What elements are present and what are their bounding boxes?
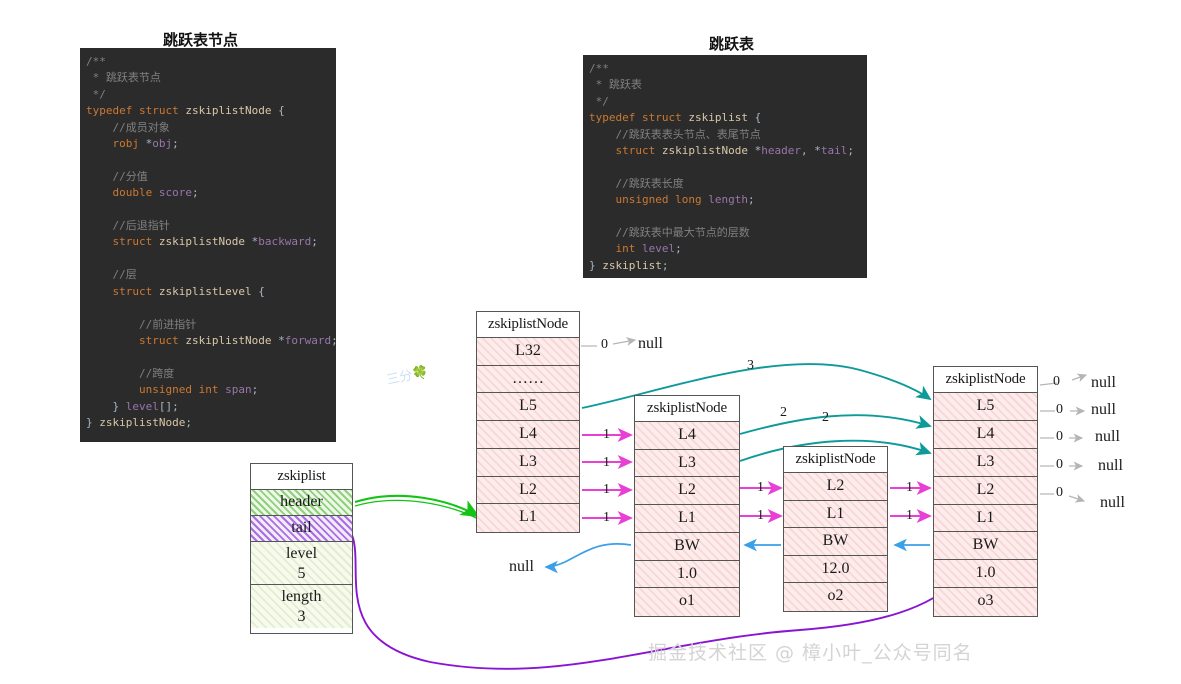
node-o2-title: zskiplistNode bbox=[784, 447, 887, 473]
zskiplist-field-label: length bbox=[282, 588, 322, 605]
node-o1-title: zskiplistNode bbox=[635, 396, 739, 422]
node-o3-cell-L3[interactable]: L3 bbox=[934, 449, 1037, 477]
zero-right-3: 0 bbox=[1056, 429, 1063, 445]
span-label-o2-l2: 1 bbox=[906, 480, 913, 496]
zskiplist-field-label: level bbox=[286, 545, 317, 562]
null-right-4: null bbox=[1098, 457, 1123, 475]
zero-right-2: 0 bbox=[1056, 402, 1063, 418]
node-o3-cell-BW[interactable]: BW bbox=[934, 532, 1037, 560]
node-o2-cell-12.0[interactable]: 12.0 bbox=[784, 556, 887, 584]
header-node-cell-L2[interactable]: L2 bbox=[477, 477, 579, 505]
span-label-h-l2: 1 bbox=[603, 482, 610, 498]
node-o1-cell-BW[interactable]: BW bbox=[635, 533, 739, 561]
null-right-2: null bbox=[1091, 401, 1116, 419]
node-o3-cell-L4[interactable]: L4 bbox=[934, 421, 1037, 449]
teal-span-label-3: 3 bbox=[747, 358, 754, 374]
node-o2-box[interactable]: zskiplistNodeL2L1BW12.0o2 bbox=[783, 446, 888, 612]
span-label-o2-l1: 1 bbox=[906, 508, 913, 524]
header-node-title: zskiplistNode bbox=[477, 312, 579, 338]
zero-right-1: 0 bbox=[1053, 374, 1060, 390]
header-node-cell-L3[interactable]: L3 bbox=[477, 449, 579, 477]
zskiplist-field-header[interactable]: header bbox=[251, 490, 352, 516]
span-label-h-l1: 1 bbox=[603, 510, 610, 526]
header-node-box[interactable]: zskiplistNodeL32……L5L4L3L2L1 bbox=[476, 311, 580, 533]
span-label-o1-l2: 1 bbox=[757, 480, 764, 496]
zero-right-4: 0 bbox=[1056, 457, 1063, 473]
node-o1-box[interactable]: zskiplistNodeL4L3L2L1BW1.0o1 bbox=[634, 395, 740, 617]
header-node-cell-L1[interactable]: L1 bbox=[477, 504, 579, 532]
node-o3-cell-L1[interactable]: L1 bbox=[934, 505, 1037, 533]
zskiplist-box[interactable]: zskiplistheadertaillevel5length3 bbox=[250, 463, 353, 634]
span-label-h-l4: 1 bbox=[603, 427, 610, 443]
node-o1-cell-L2[interactable]: L2 bbox=[635, 477, 739, 505]
header-node-cell-L32[interactable]: L32 bbox=[477, 338, 579, 366]
zskiplist-field-value: 3 bbox=[298, 608, 306, 625]
null-label-top: null bbox=[638, 335, 663, 353]
null-right-1: null bbox=[1091, 374, 1116, 392]
node-o2-cell-L1[interactable]: L1 bbox=[784, 501, 887, 529]
node-o3-title: zskiplistNode bbox=[934, 367, 1037, 393]
node-o1-cell-L3[interactable]: L3 bbox=[635, 450, 739, 478]
node-o3-box[interactable]: zskiplistNodeL5L4L3L2L1BW1.0o3 bbox=[933, 366, 1038, 617]
node-o3-cell-1.0[interactable]: 1.0 bbox=[934, 560, 1037, 588]
zskiplist-field-value: 5 bbox=[298, 565, 306, 582]
node-o2-cell-BW[interactable]: BW bbox=[784, 528, 887, 556]
node-o3-cell-L2[interactable]: L2 bbox=[934, 477, 1037, 505]
node-o2-cell-o2[interactable]: o2 bbox=[784, 583, 887, 611]
node-o1-cell-L1[interactable]: L1 bbox=[635, 505, 739, 533]
node-o3-cell-L5[interactable]: L5 bbox=[934, 393, 1037, 421]
null-right-3: null bbox=[1095, 428, 1120, 446]
node-o2-cell-L2[interactable]: L2 bbox=[784, 473, 887, 501]
null-right-5: null bbox=[1100, 494, 1125, 512]
header-node-cell-[interactable]: …… bbox=[477, 366, 579, 394]
watermark-text: 掘金技术社区 @ 樟小叶_公众号同名 bbox=[648, 638, 973, 665]
zskiplist-field-label: header bbox=[280, 493, 323, 510]
node-o1-cell-o1[interactable]: o1 bbox=[635, 588, 739, 616]
teal-span-label-2a: 2 bbox=[780, 405, 787, 421]
zskiplist-field-label: tail bbox=[291, 519, 311, 536]
node-o3-cell-o3[interactable]: o3 bbox=[934, 588, 1037, 616]
span-label-o1-l1: 1 bbox=[757, 508, 764, 524]
null-backward-label: null bbox=[509, 558, 534, 576]
zskiplist-field-length[interactable]: length3 bbox=[251, 585, 352, 628]
span-label-h-l3: 1 bbox=[603, 455, 610, 471]
zskiplist-field-tail[interactable]: tail bbox=[251, 516, 352, 542]
header-node-cell-L5[interactable]: L5 bbox=[477, 393, 579, 421]
zero-right-5: 0 bbox=[1056, 485, 1063, 501]
span-label-top-zero: 0 bbox=[601, 337, 608, 353]
zskiplist-box-title: zskiplist bbox=[251, 464, 352, 490]
node-o1-cell-1.0[interactable]: 1.0 bbox=[635, 561, 739, 589]
node-o1-cell-L4[interactable]: L4 bbox=[635, 422, 739, 450]
teal-span-label-2b: 2 bbox=[822, 410, 829, 426]
header-node-cell-L4[interactable]: L4 bbox=[477, 421, 579, 449]
zskiplist-field-level[interactable]: level5 bbox=[251, 542, 352, 585]
